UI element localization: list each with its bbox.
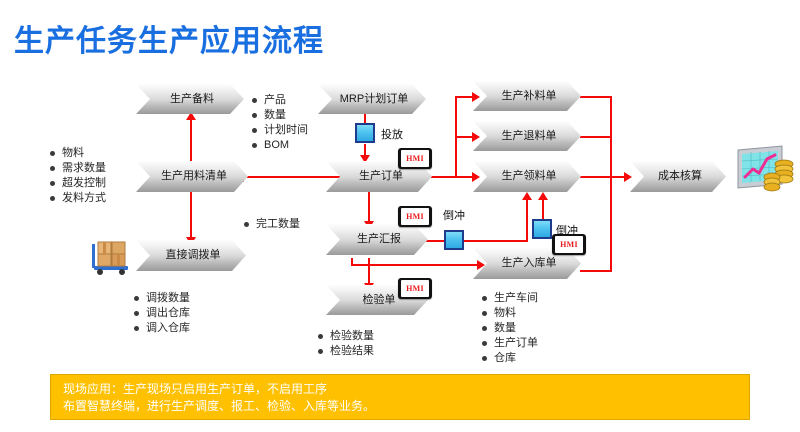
node-return[interactable]: 生产退料单	[473, 121, 581, 151]
release-node[interactable]	[355, 123, 375, 143]
arrowhead-supply	[472, 92, 480, 102]
node-return-label: 生产退料单	[502, 131, 557, 142]
hmi-screen-label: HMI	[401, 208, 429, 225]
bullet-dot-icon	[482, 326, 487, 331]
node-pick-label: 生产领料单	[502, 171, 557, 182]
connector-pick-to-cost	[580, 176, 628, 178]
hmi-screen-label: HMI	[401, 150, 429, 167]
node-material-list-label: 生产用料清单	[161, 171, 227, 182]
bullet-dot-icon	[134, 296, 139, 301]
bullet-dot-icon	[134, 311, 139, 316]
connector-bus-to-pick	[428, 176, 476, 178]
banner-line-2: 布置智慧终端，进行生产调度、报工、检验、入库等业务。	[63, 398, 737, 415]
node-cost-label: 成本核算	[658, 171, 702, 182]
bullet-item: 仓库	[482, 351, 538, 366]
bullet-dot-icon	[50, 196, 55, 201]
connector-right-bus-v	[610, 96, 612, 272]
bullet-dot-icon	[50, 151, 55, 156]
page-title: 生产任务生产应用流程	[14, 16, 324, 60]
bullet-label: 产品	[264, 93, 286, 108]
arrowhead-return	[472, 132, 480, 142]
hmi-terminal-inspect[interactable]: HMI	[398, 278, 432, 299]
bullet-dot-icon	[244, 222, 249, 227]
node-mrp-order[interactable]: MRP计划订单	[318, 84, 426, 114]
node-supply[interactable]: 生产补料单	[473, 81, 581, 111]
bullet-dot-icon	[252, 113, 257, 118]
connector-prodorder-to-materiallist	[244, 176, 346, 178]
bullet-item: 调入仓库	[134, 321, 190, 336]
hmi-terminal-stockin[interactable]: HMI	[552, 234, 586, 255]
connector-materiallist-to-transfer	[190, 192, 192, 240]
bullet-label: 调入仓库	[146, 321, 190, 336]
bullet-dot-icon	[318, 334, 323, 339]
bullet-dot-icon	[482, 311, 487, 316]
node-material-list[interactable]: 生产用料清单	[136, 161, 248, 192]
bullet-dot-icon	[482, 296, 487, 301]
bullet-label: 数量	[494, 321, 516, 336]
arrowhead-cost	[624, 172, 632, 182]
node-prep-label: 生产备料	[170, 94, 214, 105]
bullet-item: 产品	[252, 93, 308, 108]
connector-backflush1-to-riser	[464, 240, 528, 242]
bullet-label: 检验数量	[330, 329, 374, 344]
connector-materiallist-to-prep	[190, 120, 192, 162]
bullet-label: 生产订单	[494, 336, 538, 351]
bullets-finished: 完工数量	[244, 217, 300, 232]
connector-report-to-inspect	[368, 258, 370, 286]
backflush-label-1: 倒冲	[443, 207, 465, 223]
bullet-label: 超发控制	[62, 176, 106, 191]
bullet-dot-icon	[252, 128, 257, 133]
connector-report-to-stockin-h	[351, 264, 479, 266]
bullet-label: 完工数量	[256, 217, 300, 232]
bullet-item: 完工数量	[244, 217, 300, 232]
bullet-item: 需求数量	[50, 161, 106, 176]
node-inspect-label: 检验单	[363, 295, 396, 306]
bullet-dot-icon	[252, 98, 257, 103]
bullet-item: 生产订单	[482, 336, 538, 351]
bullet-dot-icon	[318, 349, 323, 354]
bullet-item: 发料方式	[50, 191, 106, 206]
bullet-item: BOM	[252, 138, 308, 153]
hand-truck-boxes-icon	[88, 236, 134, 276]
bullet-label: 调出仓库	[146, 306, 190, 321]
bullet-item: 调拨数量	[134, 291, 190, 306]
bullet-item: 物料	[50, 146, 106, 161]
bullet-label: BOM	[264, 138, 289, 153]
node-cost[interactable]: 成本核算	[630, 161, 726, 192]
arrowhead-pick-from-stockin	[538, 192, 548, 200]
bullet-label: 检验结果	[330, 344, 374, 359]
node-prod-order-label: 生产订单	[359, 171, 403, 182]
bullet-label: 调拨数量	[146, 291, 190, 306]
bullets-transfer: 调拨数量 调出仓库 调入仓库	[134, 291, 190, 336]
bullet-item: 数量	[252, 108, 308, 123]
backflush-node-2[interactable]	[532, 219, 552, 239]
connector-prodorder-to-report	[368, 192, 370, 224]
bullet-dot-icon	[50, 166, 55, 171]
bullet-item: 物料	[482, 306, 538, 321]
node-prep[interactable]: 生产备料	[136, 84, 244, 114]
bullet-item: 超发控制	[50, 176, 106, 191]
bullet-dot-icon	[482, 341, 487, 346]
bullets-inspect: 检验数量 检验结果	[318, 329, 374, 359]
connector-stockin-to-bus	[580, 270, 612, 272]
bullet-label: 物料	[494, 306, 516, 321]
bullets-plan: 产品 数量 计划时间 BOM	[252, 93, 308, 153]
node-transfer-label: 直接调拨单	[166, 250, 221, 261]
hmi-terminal-prod-order[interactable]: HMI	[398, 148, 432, 169]
bullet-item: 数量	[482, 321, 538, 336]
bullets-stockin: 生产车间 物料 数量 生产订单 仓库	[482, 291, 538, 366]
connector-backflush1-riser	[526, 200, 528, 242]
node-pick[interactable]: 生产领料单	[473, 161, 581, 192]
bullet-item: 生产车间	[482, 291, 538, 306]
footer-banner: 现场应用：生产现场只启用生产订单，不启用工序 布置智慧终端，进行生产调度、报工、…	[50, 374, 750, 420]
chart-coins-icon	[734, 144, 796, 196]
bullet-dot-icon	[50, 181, 55, 186]
backflush-node-1[interactable]	[444, 230, 464, 250]
bullet-dot-icon	[252, 143, 257, 148]
bullet-item: 检验数量	[318, 329, 374, 344]
hmi-screen-label: HMI	[555, 236, 583, 253]
connector-return-to-bus	[580, 136, 612, 138]
bullet-label: 需求数量	[62, 161, 106, 176]
bullet-dot-icon	[134, 326, 139, 331]
hmi-terminal-report[interactable]: HMI	[398, 206, 432, 227]
connector-supply-to-bus	[580, 96, 612, 98]
node-supply-label: 生产补料单	[502, 91, 557, 102]
banner-line-1: 现场应用：生产现场只启用生产订单，不启用工序	[63, 381, 737, 398]
node-report[interactable]: 生产汇报	[326, 224, 428, 255]
arrowhead-pick-from-report	[522, 192, 532, 200]
bullet-label: 计划时间	[264, 123, 308, 138]
bullet-label: 生产车间	[494, 291, 538, 306]
hmi-screen-label: HMI	[401, 280, 429, 297]
node-stockin-label: 生产入库单	[502, 258, 557, 269]
node-transfer[interactable]: 直接调拨单	[136, 240, 246, 271]
bullet-dot-icon	[482, 356, 487, 361]
bullet-item: 计划时间	[252, 123, 308, 138]
bullet-label: 仓库	[494, 351, 516, 366]
bullet-label: 物料	[62, 146, 84, 161]
bullet-item: 检验结果	[318, 344, 374, 359]
release-label: 投放	[381, 126, 403, 142]
connector-backflush2-to-pick	[542, 200, 544, 220]
node-report-label: 生产汇报	[357, 234, 401, 245]
node-mrp-order-label: MRP计划订单	[340, 94, 408, 105]
bullet-label: 发料方式	[62, 191, 106, 206]
flowchart-canvas: 生产任务生产应用流程 生产备料	[0, 0, 800, 432]
bullet-item: 调出仓库	[134, 306, 190, 321]
bullet-label: 数量	[264, 108, 286, 123]
bullets-material: 物料 需求数量 超发控制 发料方式	[50, 146, 106, 206]
